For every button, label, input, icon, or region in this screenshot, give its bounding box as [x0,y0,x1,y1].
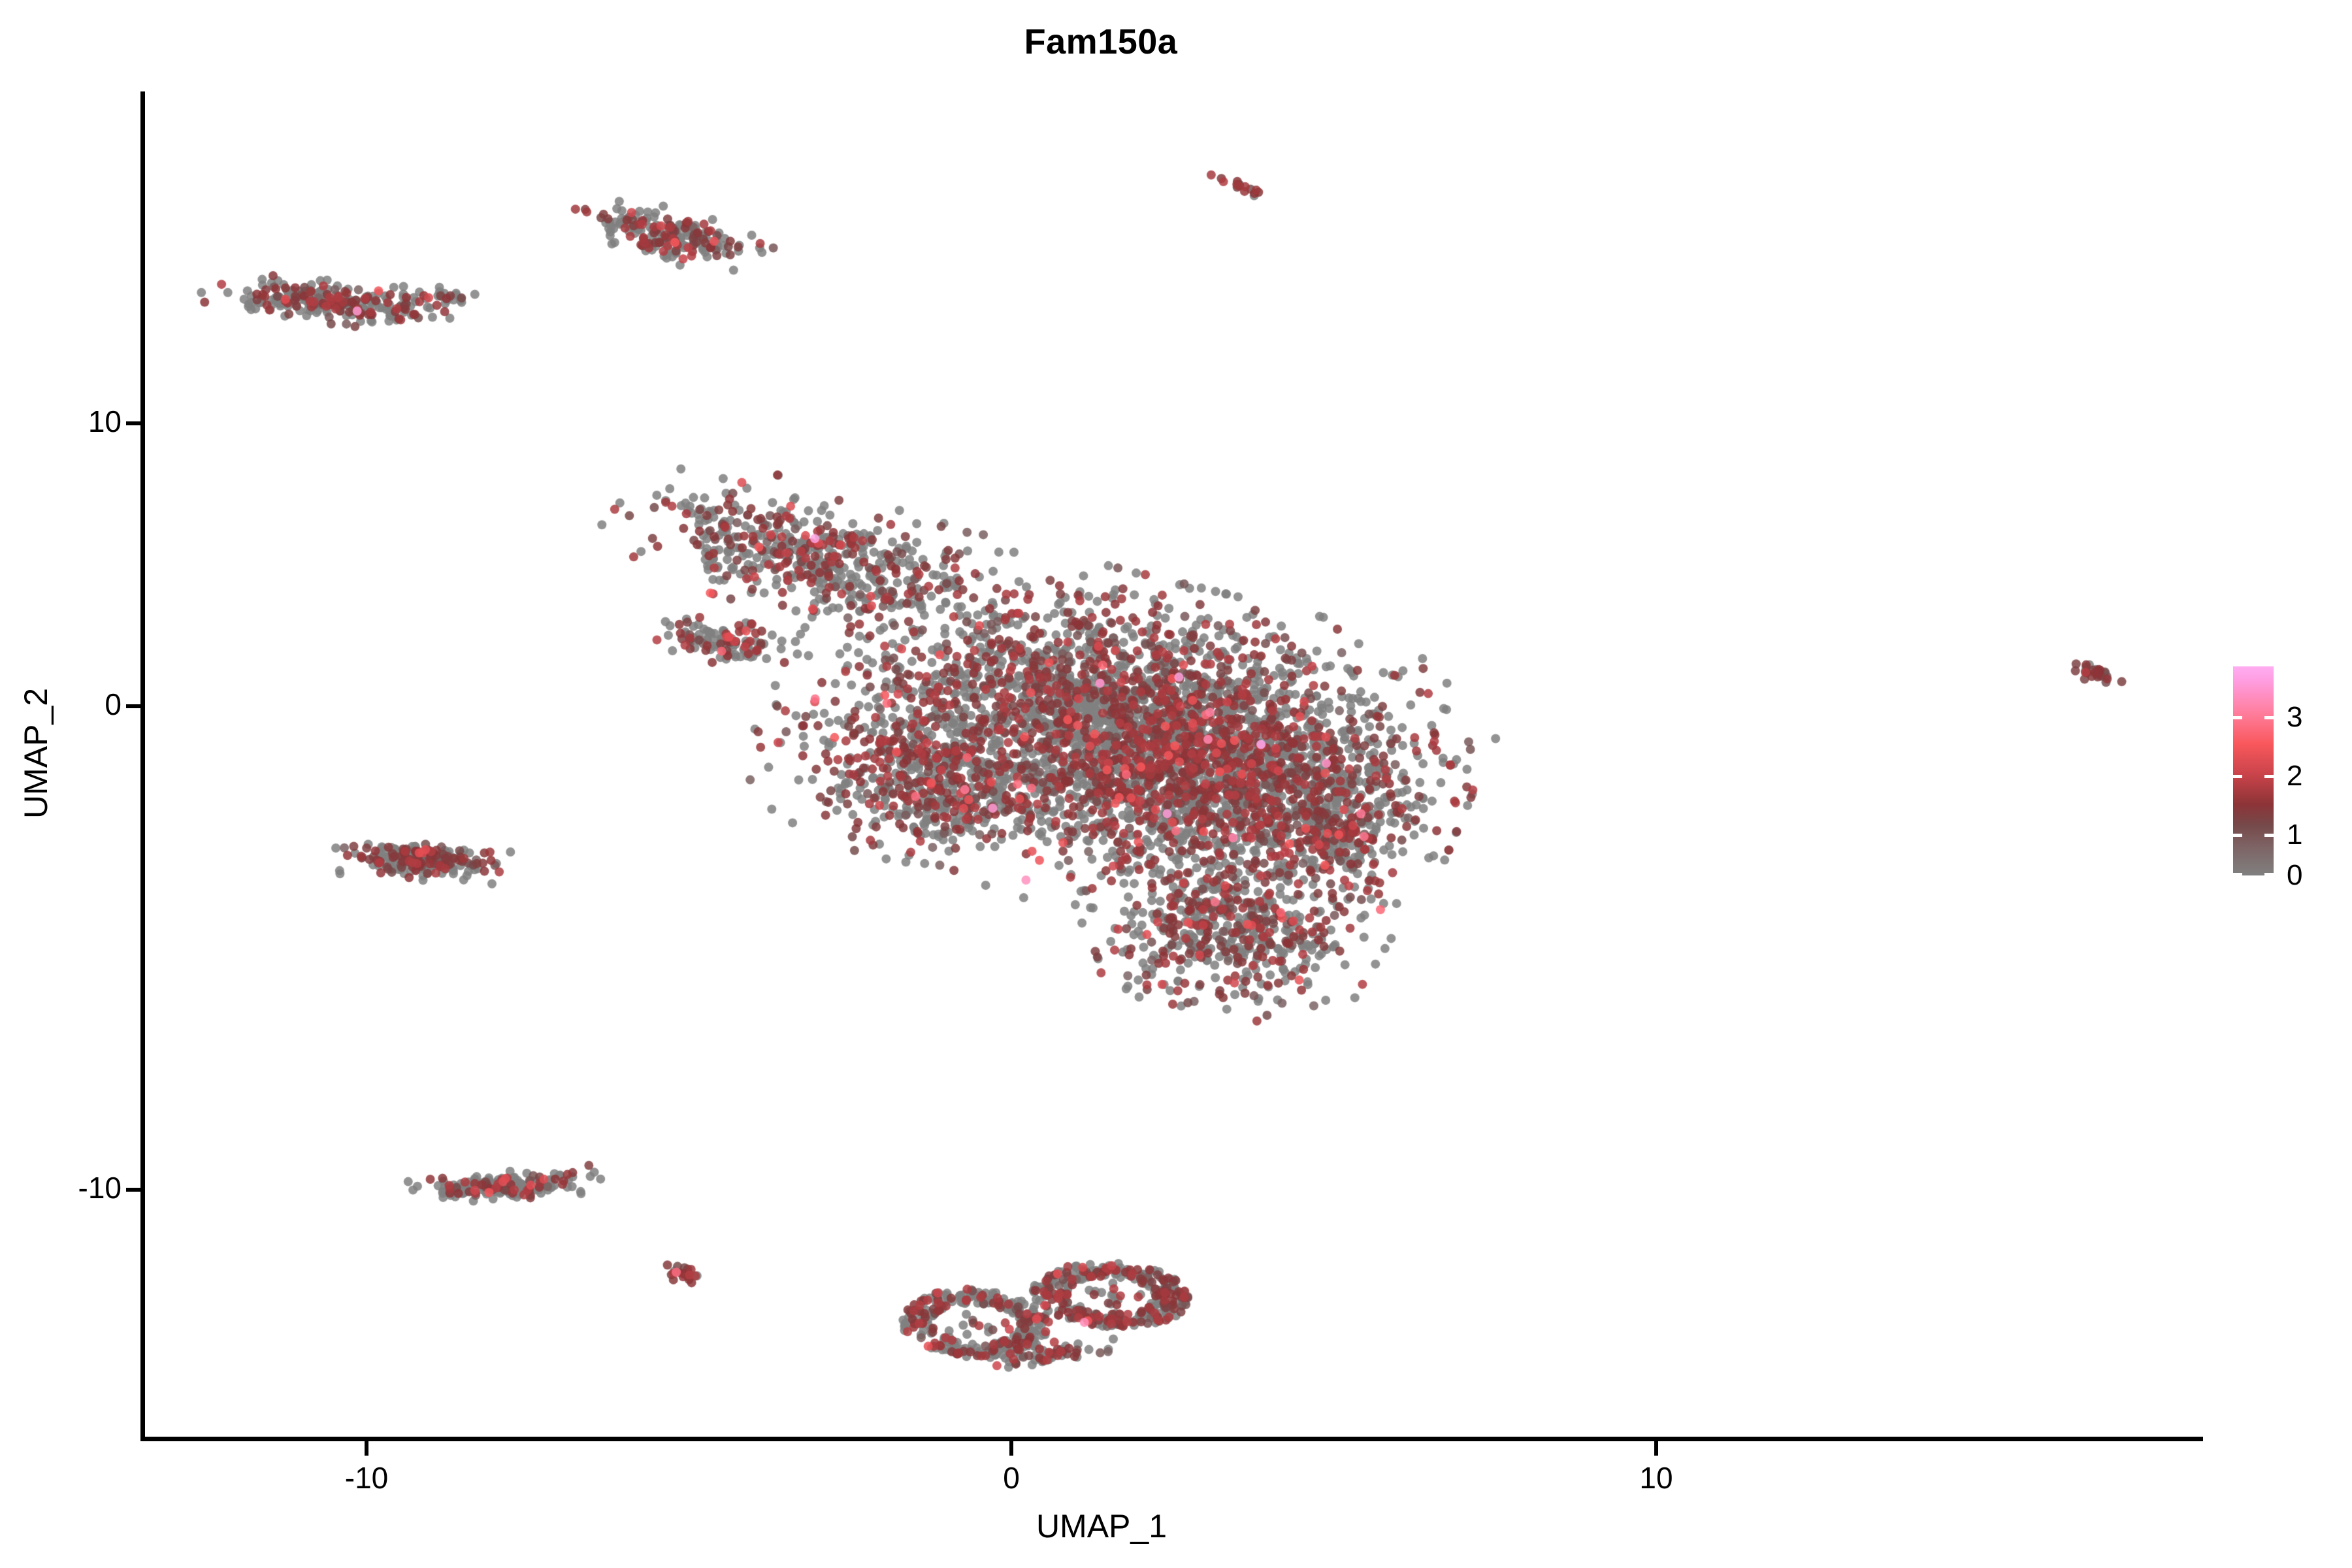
legend-label-0: 0 [2287,861,2302,890]
x-tick-label-neg10: -10 [345,1461,388,1495]
x-tick-label-10: 10 [1639,1461,1673,1495]
y-tick-label-0: 0 [105,689,122,719]
y-axis-title: UMAP_2 [18,525,54,982]
x-tick-mark-neg10 [365,1441,368,1456]
scatter-plot-canvas [144,91,2203,1439]
legend-tick-1-right [2264,834,2274,837]
y-tick-mark-neg10 [126,1188,140,1192]
legend-tick-2-left [2233,775,2242,778]
feature-plot-root: Fam150a 10 0 -10 -10 0 10 UMAP_1 UMAP_2 … [0,0,2352,1568]
page-title: Fam150a [0,22,2202,61]
y-tick-label-neg10: -10 [78,1173,122,1203]
legend-label-1: 1 [2287,821,2302,849]
legend-tick-3-left [2233,716,2242,719]
x-tick-label-0: 0 [1003,1461,1020,1495]
x-tick-mark-10 [1654,1441,1658,1456]
x-axis-title: UMAP_1 [0,1508,2203,1544]
x-axis-line [140,1437,2203,1441]
legend-tick-2-right [2264,775,2274,778]
y-axis-line [140,91,145,1441]
legend-label-2: 2 [2287,762,2302,791]
color-legend: 3 2 1 0 [2233,666,2344,895]
y-tick-mark-10 [126,421,140,425]
legend-colorbar [2233,666,2274,875]
plot-panel [144,91,2203,1439]
legend-tick-0-left [2233,873,2242,876]
legend-tick-3-right [2264,716,2274,719]
y-tick-label-10: 10 [88,406,122,436]
x-tick-mark-0 [1009,1441,1013,1456]
legend-tick-1-left [2233,834,2242,837]
legend-tick-0-right [2264,873,2274,876]
y-tick-mark-0 [126,704,140,708]
legend-label-3: 3 [2287,703,2302,732]
